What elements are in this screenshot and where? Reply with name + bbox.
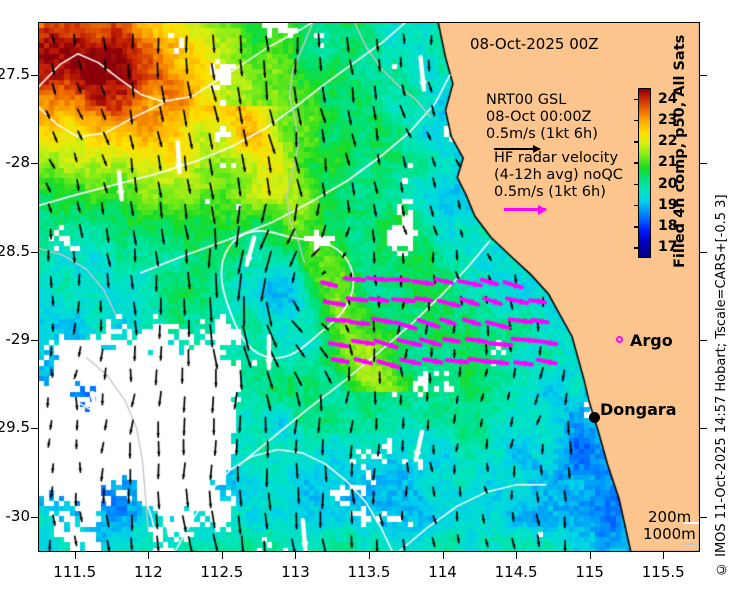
colorbar-tick-mark [634, 205, 639, 207]
current-vectors-layer [38, 22, 700, 552]
y-tick-label: -27.5 [0, 65, 30, 83]
hf-radar-scale-label: 0.5m/s (1kt 6h) [494, 184, 623, 201]
x-tick-label: 115 [555, 563, 625, 581]
y-tick-mark [700, 75, 707, 76]
colorbar-tick-mark [634, 184, 639, 186]
y-tick-mark [31, 252, 38, 253]
x-tick-label: 115.5 [628, 563, 698, 581]
colorbar-tick-mark [634, 99, 639, 101]
hf-radar-title-label: HF radar velocity [494, 150, 623, 167]
y-tick-label: -28 [0, 153, 30, 171]
argo-label: Argo [630, 332, 673, 349]
colorbar-tick-mark [634, 162, 639, 164]
x-tick-label: 113.5 [334, 563, 404, 581]
colorbar-tick-mark [634, 120, 639, 122]
y-tick-mark [700, 340, 707, 341]
x-tick-mark [75, 552, 76, 559]
x-tick-label: 113 [260, 563, 330, 581]
x-tick-label: 112.5 [187, 563, 257, 581]
x-tick-label: 111.5 [40, 563, 110, 581]
dongara-label: Dongara [600, 401, 677, 418]
date-stamp: 08-Oct-2025 00Z [470, 36, 599, 53]
hf-radar-qc-label: (4-12h avg) noQC [494, 167, 623, 184]
y-tick-label: -30 [0, 507, 30, 525]
y-tick-mark [31, 75, 38, 76]
y-tick-label: -29 [0, 330, 30, 348]
colorbar-tick-mark [634, 226, 639, 228]
x-tick-mark [590, 552, 591, 559]
y-tick-mark [700, 517, 707, 518]
depth-200m-legend-line [684, 522, 700, 524]
y-tick-label: -28.5 [0, 242, 30, 260]
x-tick-mark [295, 552, 296, 559]
y-tick-mark [31, 428, 38, 429]
y-tick-label: -29.5 [0, 418, 30, 436]
colorbar-title: Filled 4h comp, p50, All Sats [672, 88, 692, 268]
y-tick-mark [31, 340, 38, 341]
y-tick-mark [700, 163, 707, 164]
copyright-credit: © IMOS 11-Oct-2025 14:57 Hobart; Tscale=… [714, 146, 734, 576]
x-tick-mark [516, 552, 517, 559]
hf-radar-legend-block: HF radar velocity (4-12h avg) noQC 0.5m/… [494, 150, 623, 201]
y-tick-mark [700, 428, 707, 429]
depth-1000m-label: 1000m [643, 526, 696, 543]
map-plot-area[interactable]: 08-Oct-2025 00Z NRT00 GSL 08-Oct 00:00Z … [38, 22, 700, 552]
model-scale-label: 0.5m/s (1kt 6h) [486, 126, 598, 143]
x-tick-mark [148, 552, 149, 559]
hf-radar-vector-legend-arrow-icon [504, 208, 546, 211]
x-tick-label: 112 [113, 563, 183, 581]
depth-1000m-legend-line [684, 543, 700, 545]
model-source-label: NRT00 GSL [486, 92, 598, 109]
y-tick-mark [700, 252, 707, 253]
x-tick-mark [663, 552, 664, 559]
x-tick-label: 114.5 [481, 563, 551, 581]
model-time-label: 08-Oct 00:00Z [486, 109, 598, 126]
x-tick-mark [443, 552, 444, 559]
y-tick-mark [31, 517, 38, 518]
colorbar-tick-mark [634, 247, 639, 249]
y-tick-mark [31, 163, 38, 164]
colorbar-tick-mark [634, 141, 639, 143]
x-tick-mark [369, 552, 370, 559]
dongara-marker-icon [589, 412, 600, 423]
model-legend-block: NRT00 GSL 08-Oct 00:00Z 0.5m/s (1kt 6h) [486, 92, 598, 143]
x-tick-mark [222, 552, 223, 559]
x-tick-label: 114 [408, 563, 478, 581]
colorbar [638, 88, 651, 258]
argo-marker-icon [616, 336, 623, 343]
sst-map-figure: 08-Oct-2025 00Z NRT00 GSL 08-Oct 00:00Z … [0, 0, 740, 592]
